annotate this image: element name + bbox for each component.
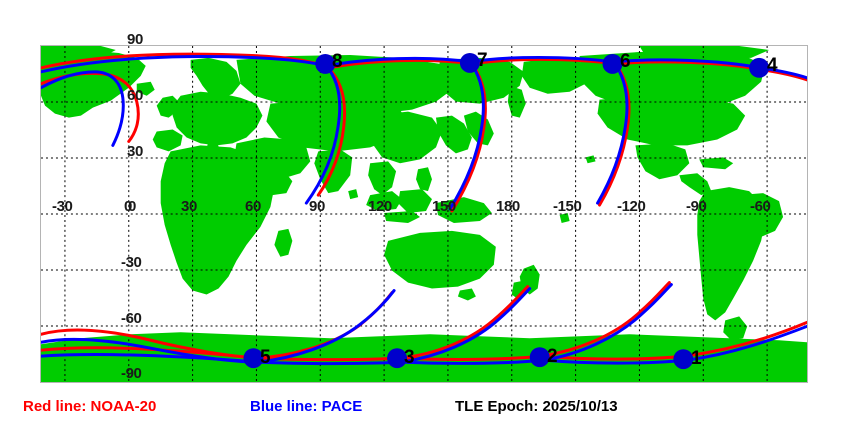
- y-tick-label-90: 90: [127, 32, 143, 47]
- x-tick-label-150: 150: [432, 199, 456, 214]
- y-tick-label--30: -30: [121, 255, 141, 270]
- marker-label-7: 7: [477, 51, 488, 70]
- legend-red-line-noaa20: Red line: NOAA-20: [23, 399, 156, 414]
- land-mexico: [635, 143, 689, 179]
- x-tick-label-180: 180: [496, 199, 520, 214]
- land-indonesia-borneo: [398, 189, 432, 213]
- land-china-east: [370, 112, 442, 164]
- marker-label-1: 1: [691, 349, 702, 368]
- y-tick-label-30: 30: [127, 144, 143, 159]
- land-africa: [161, 145, 275, 294]
- x-tick-label--150: -150: [553, 199, 581, 214]
- land-hawaii: [586, 155, 596, 163]
- x-tick-label--30: -30: [52, 199, 72, 214]
- land-madagascar: [274, 229, 292, 257]
- x-tick-label--120: -120: [617, 199, 645, 214]
- x-tick-label-120: 120: [368, 199, 392, 214]
- x-tick-label--60: -60: [750, 199, 770, 214]
- x-tick-label-90: 90: [309, 199, 325, 214]
- x-tick-label-60: 60: [245, 199, 261, 214]
- land-iberia: [153, 130, 183, 152]
- y-tick-label--60: -60: [121, 311, 141, 326]
- land-tasmania: [458, 289, 476, 301]
- land-indochina: [368, 161, 396, 195]
- land-antarctic-peninsula: [723, 316, 747, 340]
- land-sri-lanka: [348, 189, 358, 199]
- marker-label-8: 8: [332, 52, 343, 71]
- marker-label-4: 4: [767, 56, 778, 75]
- land-usa: [598, 96, 746, 146]
- marker-label-2: 2: [547, 347, 558, 366]
- legend-blue-line-pace: Blue line: PACE: [250, 399, 362, 414]
- land-europe: [173, 92, 263, 146]
- marker-label-6: 6: [620, 52, 631, 71]
- ground-track-figure: -30 0 30 60 90 120 150 180 -150 -120 -90…: [0, 0, 850, 425]
- marker-label-3: 3: [404, 348, 415, 367]
- marker-label-5: 5: [260, 348, 271, 367]
- y-tick-label-0: 0: [128, 199, 136, 214]
- y-tick-label-60: 60: [127, 88, 143, 103]
- legend-tle-epoch: TLE Epoch: 2025/10/13: [455, 399, 618, 414]
- land-philippines: [416, 167, 432, 191]
- pace-south-d: [258, 362, 402, 363]
- land-australia: [384, 231, 496, 289]
- x-tick-label--90: -90: [686, 199, 706, 214]
- land-caribbean: [699, 157, 733, 169]
- y-tick-label--90: -90: [121, 366, 141, 381]
- legend: Red line: NOAA-20 Blue line: PACE TLE Ep…: [0, 396, 850, 420]
- x-tick-label-30: 30: [181, 199, 197, 214]
